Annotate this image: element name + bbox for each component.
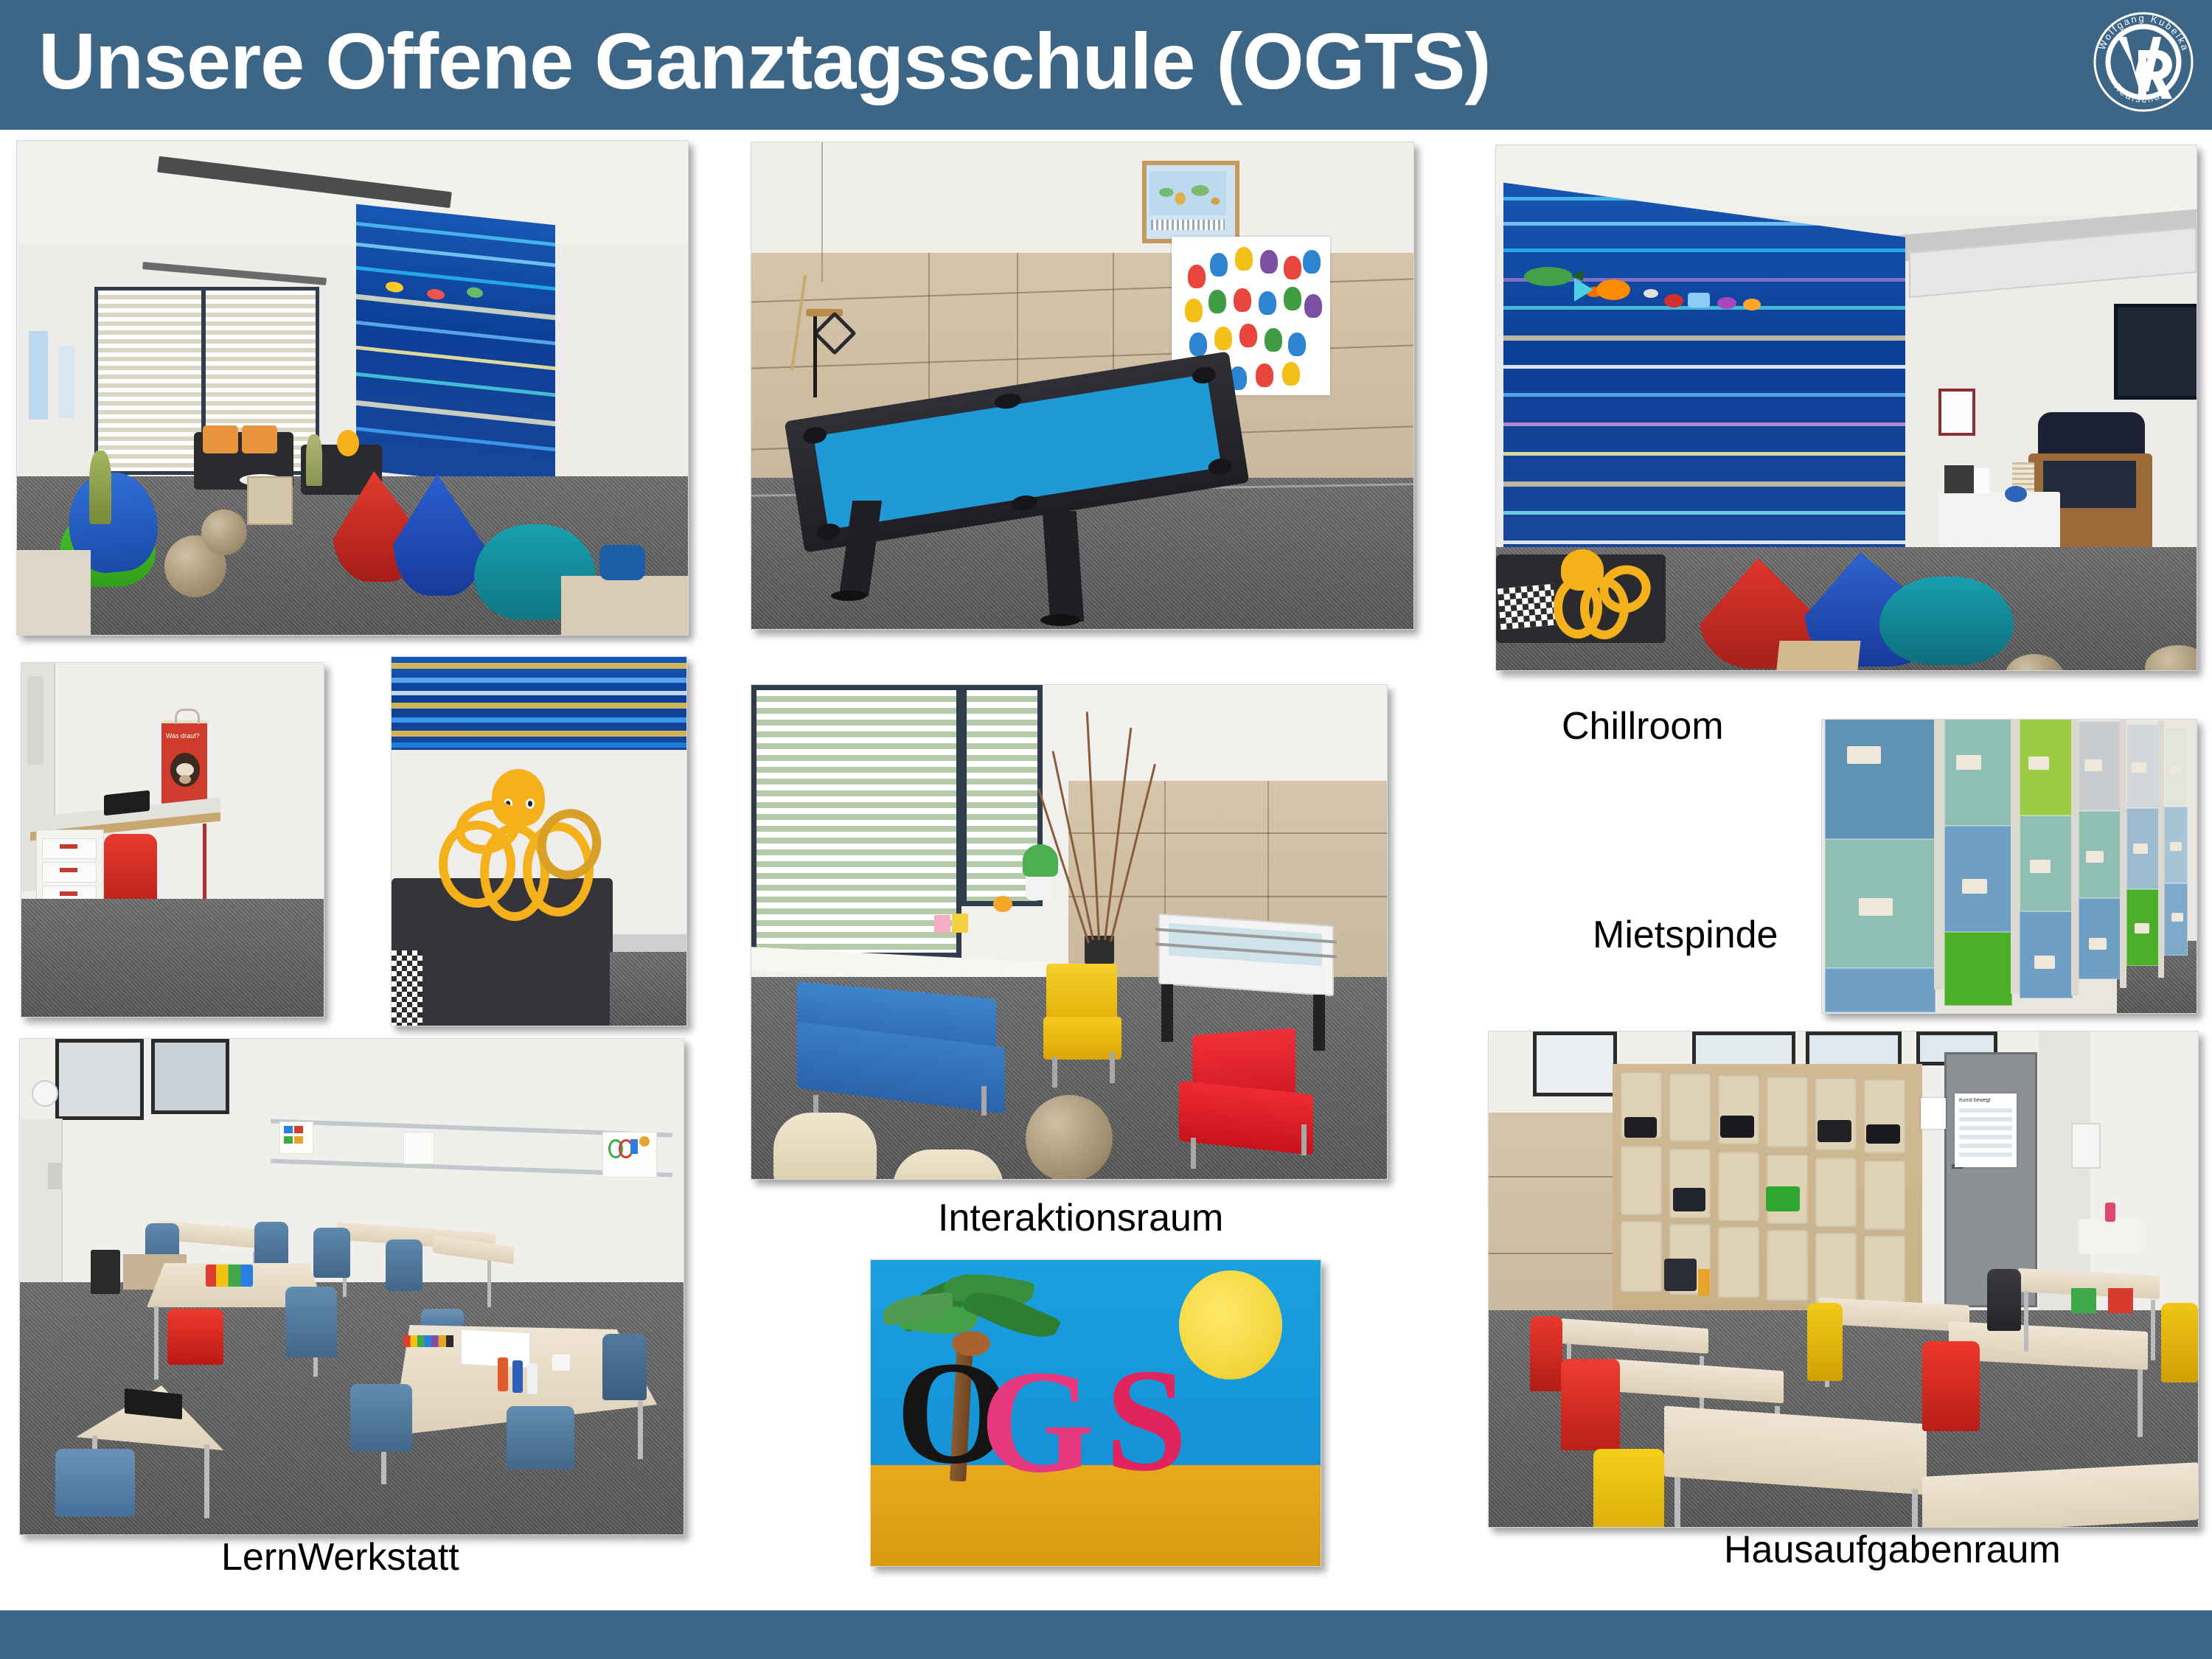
caption-mietspinde: Mietspinde: [1593, 913, 1778, 957]
photo-chillroom-wide: [16, 140, 689, 636]
ogs-letter-s: S: [1105, 1347, 1187, 1495]
wkr-school-logo: Wolfgang Kubelka Realschule: [2088, 4, 2199, 122]
photo-ogs-bild: O G S: [870, 1259, 1321, 1567]
photo-chillroom: [1495, 145, 2197, 671]
yellow-chair: [1046, 964, 1117, 1024]
locker-bank: [1821, 719, 2186, 994]
caption-chillroom: Chillroom: [1562, 704, 1724, 748]
photo-oktopus: [391, 656, 687, 1026]
caption-hausaufgabenraum: Hausaufgabenraum: [1724, 1528, 2061, 1572]
ocean-mural: [1503, 175, 1905, 566]
photo-hausaufgabenraum: Kunst bewegt: [1488, 1031, 2199, 1528]
caption-interaktionsraum: Interaktionsraum: [938, 1196, 1223, 1240]
photo-interaktionsraum: [751, 684, 1388, 1180]
page-title: Unsere Offene Ganztagsschule (OGTS): [38, 6, 1490, 116]
world-map-picture: [1142, 161, 1239, 243]
footer-bar: [0, 1610, 2212, 1659]
photo-billardraum: [751, 142, 1414, 630]
photo-mietspinde: [1821, 719, 2197, 1014]
photo-lernwerkstatt: [19, 1038, 684, 1535]
photo-lehrerplatz: Was drauf?: [21, 662, 324, 1018]
ogs-letter-g: G: [980, 1349, 1095, 1496]
caption-lernwerkstatt: LernWerkstatt: [221, 1535, 459, 1579]
